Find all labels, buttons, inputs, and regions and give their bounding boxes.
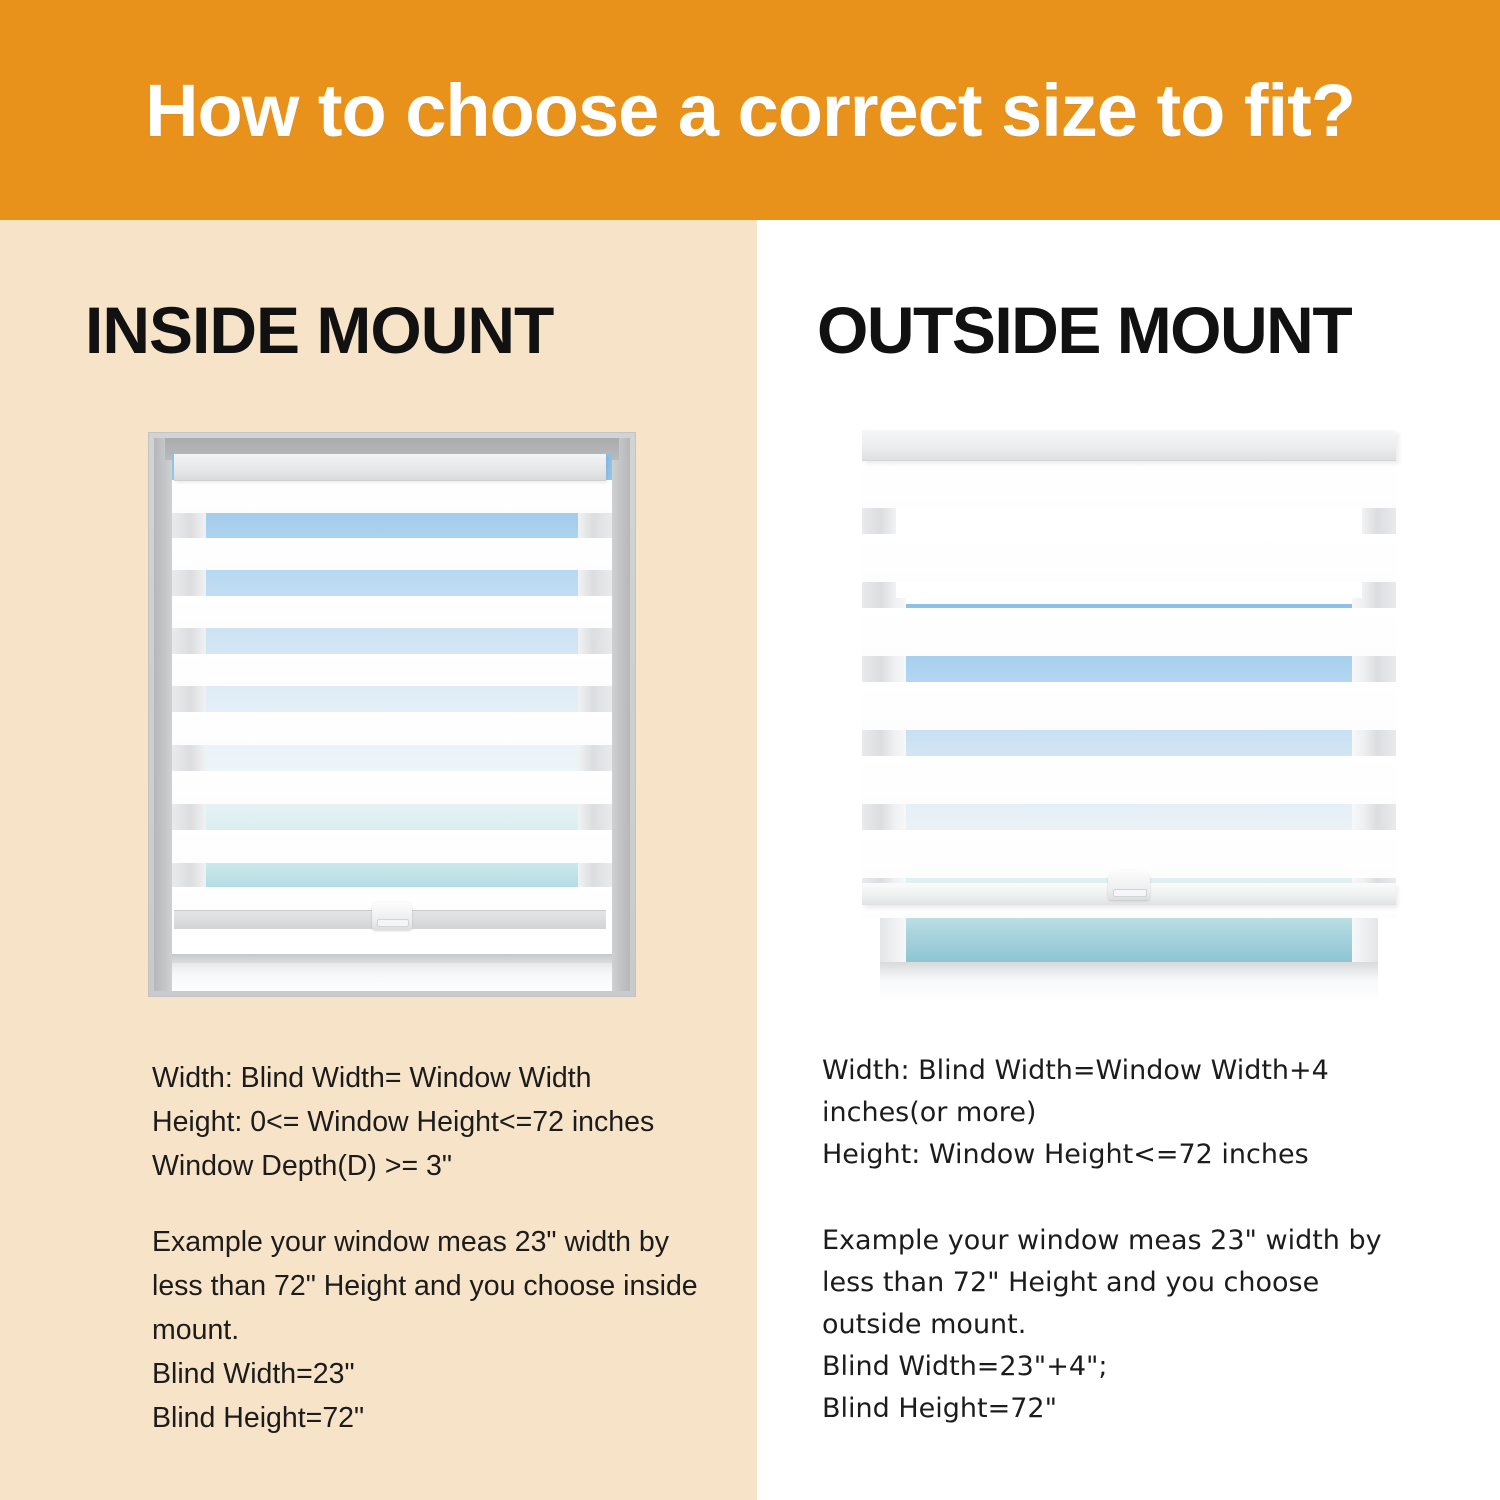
blind-band-opaque — [862, 682, 1396, 730]
blind-band-opaque — [172, 538, 612, 570]
blind-band-sheer — [172, 686, 612, 712]
blind-band-opaque — [172, 712, 612, 745]
spec-line: Window Depth(D) >= 3" — [152, 1144, 712, 1188]
blind-band-edge-right — [578, 686, 612, 712]
blind-band-edge-left — [862, 804, 896, 830]
blind-band-sheer — [862, 508, 1396, 534]
blind-band-opaque — [172, 771, 612, 804]
spec-line: Width: Blind Width= Window Width — [152, 1056, 712, 1100]
panel-outside-mount: OUTSIDE MOUNT — [757, 220, 1500, 1500]
panels-container: INSIDE MOUNT — [0, 220, 1500, 1500]
zebra-blind-fabric — [172, 480, 612, 910]
blind-headrail[interactable] — [862, 430, 1396, 461]
blind-band-edge-right — [1362, 508, 1396, 534]
blind-pull-tab[interactable] — [372, 902, 412, 930]
window-reveal-left — [154, 438, 172, 991]
example-line: Example your window meas 23" width by — [152, 1220, 722, 1264]
blind-band-edge-left — [172, 686, 206, 712]
example-line: Blind Width=23" — [152, 1352, 722, 1396]
infographic-page: How to choose a correct size to fit? INS… — [0, 0, 1500, 1500]
example-line: less than 72" Height and you choose insi… — [152, 1264, 722, 1308]
blind-band-edge-left — [172, 570, 206, 596]
window-sill-edge — [172, 954, 612, 963]
blind-band-edge-right — [578, 570, 612, 596]
blind-band-sheer — [172, 628, 612, 654]
example-line: Example your window meas 23" width by — [822, 1220, 1402, 1262]
example-line: Blind Height=72" — [152, 1396, 722, 1440]
blind-band-sheer — [172, 513, 612, 538]
blind-band-edge-left — [862, 656, 896, 682]
blind-band-sheer — [862, 656, 1396, 682]
blind-band-sheer — [862, 730, 1396, 756]
inside-mount-spec-text: Width: Blind Width= Window Width Height:… — [152, 1056, 712, 1188]
zebra-blind-fabric — [862, 460, 1396, 890]
blind-band-opaque — [862, 756, 1396, 804]
blind-band-edge-right — [1362, 582, 1396, 608]
outside-mount-window-diagram — [862, 428, 1396, 1006]
panel-inside-mount: INSIDE MOUNT — [0, 220, 757, 1500]
spec-line: Height: 0<= Window Height<=72 inches — [152, 1100, 712, 1144]
blind-band-sheer — [862, 804, 1396, 830]
blind-band-edge-right — [578, 513, 612, 538]
outside-mount-heading: OUTSIDE MOUNT — [817, 292, 1351, 368]
blind-band-edge-right — [1362, 730, 1396, 756]
blind-pull-tab[interactable] — [1108, 870, 1150, 900]
blind-band-edge-left — [172, 804, 206, 830]
example-line: less than 72" Height and you choose — [822, 1262, 1402, 1304]
blind-band-edge-left — [172, 628, 206, 654]
window-opening — [172, 454, 612, 954]
blind-band-edge-right — [578, 804, 612, 830]
blind-band-edge-left — [172, 513, 206, 538]
blind-band-opaque — [172, 596, 612, 628]
blind-band-edge-right — [1362, 804, 1396, 830]
inside-mount-window-diagram — [148, 432, 636, 997]
header-banner: How to choose a correct size to fit? — [0, 0, 1500, 220]
blind-band-opaque — [172, 830, 612, 863]
example-line: Blind Height=72" — [822, 1388, 1402, 1430]
blind-band-edge-left — [862, 508, 896, 534]
outside-mount-example-text: Example your window meas 23" width by le… — [822, 1220, 1402, 1430]
blind-band-sheer — [862, 582, 1396, 608]
page-title: How to choose a correct size to fit? — [145, 68, 1355, 153]
blind-band-opaque — [862, 904, 1396, 918]
blind-band-edge-left — [862, 582, 896, 608]
blind-band-opaque — [172, 654, 612, 686]
blind-band-sheer — [172, 745, 612, 771]
window-sill — [880, 962, 1378, 1002]
blind-band-edge-right — [578, 628, 612, 654]
inside-mount-heading: INSIDE MOUNT — [85, 292, 553, 368]
spec-line: inches(or more) — [822, 1092, 1382, 1134]
blind-band-opaque — [862, 608, 1396, 656]
blind-headrail[interactable] — [174, 454, 606, 481]
inside-mount-example-text: Example your window meas 23" width by le… — [152, 1220, 722, 1440]
blind-band-sheer — [172, 570, 612, 596]
blind-band-edge-right — [578, 745, 612, 771]
spec-line: Width: Blind Width=Window Width+4 — [822, 1050, 1382, 1092]
blind-band-edge-right — [578, 863, 612, 887]
blind-band-edge-right — [1362, 656, 1396, 682]
example-line: mount. — [152, 1308, 722, 1352]
window-reveal-right — [612, 438, 630, 991]
blind-band-opaque — [862, 534, 1396, 582]
spec-line: Height: Window Height<=72 inches — [822, 1134, 1382, 1176]
example-line: outside mount. — [822, 1304, 1402, 1346]
blind-band-sheer — [172, 863, 612, 887]
outside-mount-spec-text: Width: Blind Width=Window Width+4 inches… — [822, 1050, 1382, 1176]
blind-band-sheer — [172, 804, 612, 830]
blind-band-edge-left — [172, 745, 206, 771]
blind-band-opaque — [172, 480, 612, 513]
blind-band-opaque — [862, 460, 1396, 508]
blind-band-edge-left — [172, 863, 206, 887]
blind-band-edge-left — [862, 730, 896, 756]
example-line: Blind Width=23"+4"; — [822, 1346, 1402, 1388]
